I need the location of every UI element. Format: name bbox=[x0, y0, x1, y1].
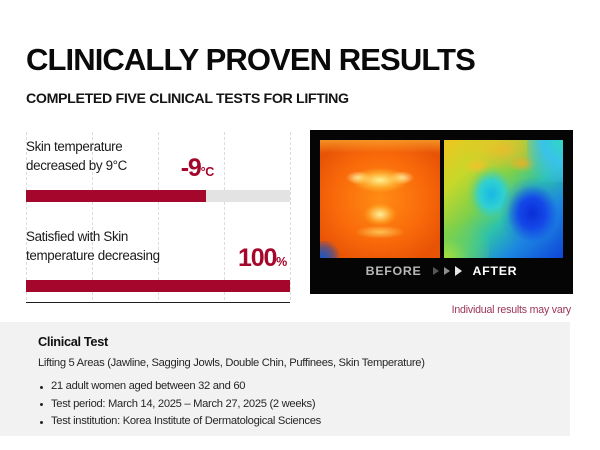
stat-value-number: -9 bbox=[181, 154, 201, 182]
clinical-test-bullet-list: 21 adult women aged between 32 and 60 Te… bbox=[38, 378, 556, 431]
promo-infographic: CLINICALLY PROVEN RESULTS COMPLETED FIVE… bbox=[0, 0, 600, 450]
arrow-right-icon bbox=[444, 267, 450, 275]
gridline-100 bbox=[290, 132, 291, 300]
arrow-right-icon bbox=[455, 266, 462, 276]
header: CLINICALLY PROVEN RESULTS COMPLETED FIVE… bbox=[26, 44, 566, 107]
arrow-group bbox=[433, 266, 462, 276]
stat-item: Satisfied with Skin temperature decreasi… bbox=[26, 228, 290, 292]
bar-track bbox=[26, 280, 290, 292]
stat-header: Skin temperature decreased by 9°C -9°C bbox=[26, 138, 290, 182]
stat-header: Satisfied with Skin temperature decreasi… bbox=[26, 228, 290, 272]
thermal-comparison-panel: BEFORE AFTER bbox=[310, 130, 573, 294]
clinical-test-subtitle: Lifting 5 Areas (Jawline, Sagging Jowls,… bbox=[38, 357, 556, 369]
arrow-right-icon bbox=[433, 267, 439, 275]
page-title: CLINICALLY PROVEN RESULTS bbox=[26, 44, 566, 77]
stats-chart: Skin temperature decreased by 9°C -9°C S… bbox=[26, 132, 290, 300]
clinical-test-panel: Clinical Test Lifting 5 Areas (Jawline, … bbox=[0, 322, 570, 436]
list-item: 21 adult women aged between 32 and 60 bbox=[38, 378, 556, 396]
thermal-image-before bbox=[320, 140, 440, 258]
stat-value-number: 100 bbox=[238, 244, 276, 272]
stat-value-unit: % bbox=[276, 255, 287, 269]
stat-value-unit: °C bbox=[201, 165, 214, 179]
clinical-test-content: Clinical Test Lifting 5 Areas (Jawline, … bbox=[38, 334, 556, 431]
clinical-test-title: Clinical Test bbox=[38, 334, 556, 349]
before-label: BEFORE bbox=[366, 264, 422, 278]
list-item: Test institution: Korea Institute of Der… bbox=[38, 413, 556, 431]
after-label: AFTER bbox=[473, 264, 518, 278]
thermal-image-pair bbox=[320, 140, 563, 258]
stat-item: Skin temperature decreased by 9°C -9°C bbox=[26, 138, 290, 202]
bar-track bbox=[26, 190, 290, 202]
stat-value: -9°C bbox=[181, 156, 214, 181]
thermal-image-after bbox=[444, 140, 564, 258]
results-disclaimer: Individual results may vary bbox=[452, 304, 571, 316]
list-item: Test period: March 14, 2025 – March 27, … bbox=[38, 396, 556, 414]
bar-fill bbox=[26, 190, 206, 202]
stat-value: 100% bbox=[238, 246, 287, 271]
thermal-caption: BEFORE AFTER bbox=[310, 258, 573, 284]
stat-label: Satisfied with Skin temperature decreasi… bbox=[26, 228, 160, 265]
stat-label: Skin temperature decreased by 9°C bbox=[26, 138, 127, 175]
bar-fill bbox=[26, 280, 290, 292]
stats-divider bbox=[26, 302, 290, 303]
page-subtitle: COMPLETED FIVE CLINICAL TESTS FOR LIFTIN… bbox=[26, 91, 566, 107]
